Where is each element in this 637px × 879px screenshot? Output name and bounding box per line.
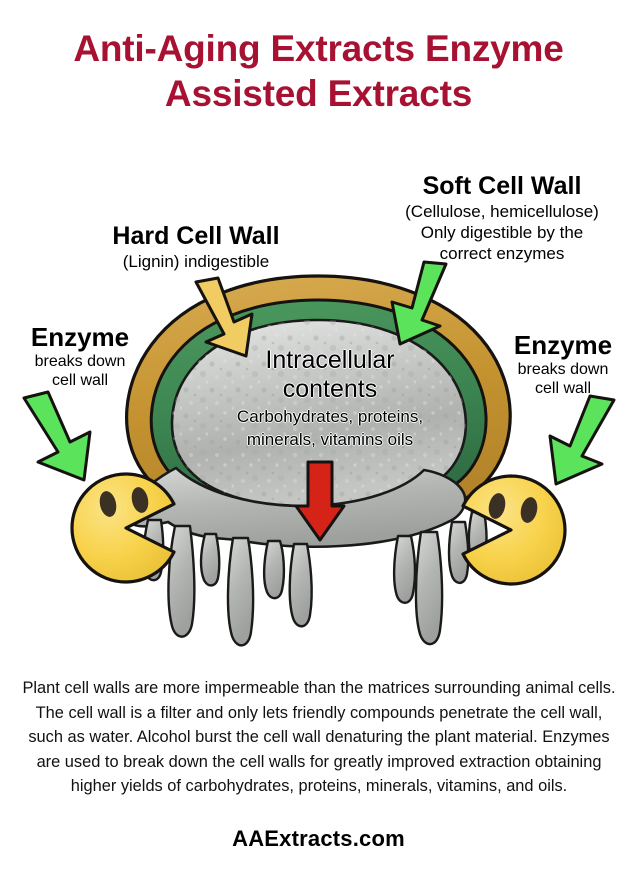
label-soft-cell-wall-heading: Soft Cell Wall [378, 172, 626, 201]
cell-diagram: Hard Cell Wall (Lignin) indigestible Sof… [0, 150, 637, 660]
label-soft-cell-wall-sub-3: correct enzymes [378, 243, 626, 264]
label-intracellular-line-4: minerals, vitamins oils [205, 430, 455, 450]
label-soft-cell-wall: Soft Cell Wall (Cellulose, hemicellulose… [378, 172, 626, 264]
label-enzyme-left-sub-1: breaks down [6, 352, 154, 371]
label-intracellular-contents: Intracellular contents Carbohydrates, pr… [205, 346, 455, 450]
page-title: Anti-Aging Extracts Enzyme Assisted Extr… [0, 26, 637, 116]
label-intracellular-line-3: Carbohydrates, proteins, [205, 407, 455, 427]
arrow-enzyme-right-green-icon [550, 396, 614, 484]
label-enzyme-right-sub-2: cell wall [492, 379, 634, 398]
label-enzyme-left-heading: Enzyme [6, 322, 154, 352]
body-copy-text: Plant cell walls are more impermeable th… [22, 676, 616, 799]
label-intracellular-line-1: Intracellular [205, 346, 455, 375]
label-hard-cell-wall-heading: Hard Cell Wall [78, 222, 314, 251]
body-copy: Plant cell walls are more impermeable th… [22, 676, 616, 799]
page-title-line-2: Assisted Extracts [0, 71, 637, 116]
page-title-line-1: Anti-Aging Extracts Enzyme [0, 26, 637, 71]
label-hard-cell-wall: Hard Cell Wall (Lignin) indigestible [78, 222, 314, 272]
label-intracellular-line-2: contents [205, 375, 455, 404]
label-enzyme-left: Enzyme breaks down cell wall [6, 322, 154, 390]
arrow-enzyme-left-green-icon [24, 392, 90, 480]
label-soft-cell-wall-sub-1: (Cellulose, hemicellulose) [378, 201, 626, 222]
label-soft-cell-wall-sub-2: Only digestible by the [378, 222, 626, 243]
label-enzyme-left-sub-2: cell wall [6, 371, 154, 390]
label-enzyme-right: Enzyme breaks down cell wall [492, 330, 634, 398]
label-enzyme-right-sub-1: breaks down [492, 360, 634, 379]
footer-website: AAExtracts.com [0, 826, 637, 852]
label-enzyme-right-heading: Enzyme [492, 330, 634, 360]
label-hard-cell-wall-sub-1: (Lignin) indigestible [78, 251, 314, 272]
infographic-page: Anti-Aging Extracts Enzyme Assisted Extr… [0, 0, 637, 879]
